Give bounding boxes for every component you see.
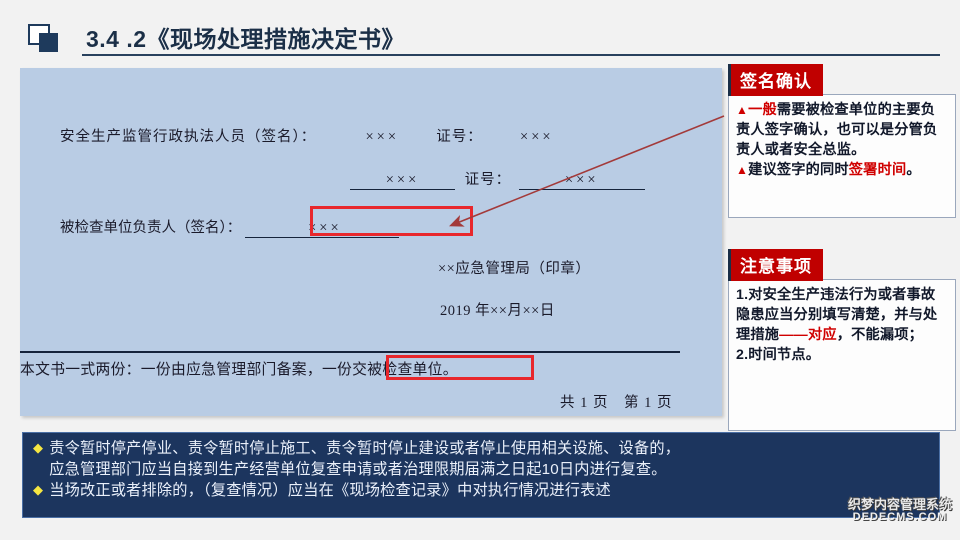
annotation-notices: 注意事项 1.对安全生产违法行为或者事故隐患应当分别填写清楚，并与处理措施——对… xyxy=(728,249,956,431)
bottom-note-line: 当场改正或者排除的，（复查情况）应当在《现场检查记录》中对执行情况进行表述 xyxy=(49,481,931,502)
bottom-note-line: 责令暂时停产停业、责令暂时停止施工、责令暂时停止建设或者停止使用相关设施、设备的… xyxy=(49,439,931,460)
annotation-line: 1.对安全生产违法行为或者事故隐患应当分别填写清楚，并与处理措施——对应，不能漏… xyxy=(736,285,949,345)
bottom-note-text: 当场改正或者排除的，（复查情况）应当在《现场检查记录》中对执行情况进行表述 xyxy=(49,481,931,502)
slide-root: 3.4 .2《现场处理措施决定书》 安全生产监管行政执法人员（签名）： ××× … xyxy=(0,0,960,540)
annotation-body-signature: ▲一般需要被检查单位的主要负责人签字确认，也可以是分管负责人或者安全总监。 ▲建… xyxy=(728,94,956,218)
header-divider xyxy=(82,54,940,56)
annotation-body-notices: 1.对安全生产违法行为或者事故隐患应当分别填写清楚，并与处理措施——对应，不能漏… xyxy=(728,279,956,431)
watermark: 织梦内容管理系统 DEDECMS.COM xyxy=(846,498,954,524)
bottom-note-item: ◆ 责令暂时停产停业、责令暂时停止施工、责令暂时停止建设或者停止使用相关设施、设… xyxy=(33,439,931,481)
annotation-signature-confirmation: 签名确认 ▲一般需要被检查单位的主要负责人签字确认，也可以是分管负责人或者安全总… xyxy=(728,64,956,218)
annotation-seg: 2.时间节点。 xyxy=(736,347,820,363)
officer-signature-value: ××× xyxy=(366,129,400,145)
diamond-bullet-icon: ◆ xyxy=(33,481,43,499)
bottom-note-item: ◆ 当场改正或者排除的，（复查情况）应当在《现场检查记录》中对执行情况进行表述 xyxy=(33,481,931,502)
annotation-seg: 建议签字的同时 xyxy=(748,162,849,178)
annotation-seg: 。 xyxy=(906,162,920,178)
footnote-prefix: 本文书一式两份：一份由应急管理部门备案， xyxy=(20,362,322,378)
diamond-bullet-icon: ◆ xyxy=(33,439,43,457)
logo-filled-square xyxy=(39,33,58,52)
footnote-highlight-box xyxy=(386,355,534,380)
watermark-line-1: 织梦内容管理系统 xyxy=(846,498,954,511)
officer2-cert-value: ××× xyxy=(519,172,645,190)
officer2-signature-value: ××× xyxy=(350,172,455,190)
annotation-line: ▲建议签字的同时签署时间。 xyxy=(736,160,949,180)
annotation-seg: 一般 xyxy=(748,102,777,118)
annotation-seg: ——对应 xyxy=(779,327,837,343)
bottom-notes-bar: ◆ 责令暂时停产停业、责令暂时停止施工、责令暂时停止建设或者停止使用相关设施、设… xyxy=(22,432,940,518)
responsible-label: 被检查单位负责人（签名）： xyxy=(60,220,241,236)
officer-cert-label: 证号： xyxy=(436,129,483,145)
annotation-line: 2.时间节点。 xyxy=(736,345,949,365)
officer-cert-value: ××× xyxy=(520,129,554,145)
footnote-divider xyxy=(20,351,680,353)
officer-label: 安全生产监管行政执法人员（签名）： xyxy=(60,129,316,145)
watermark-line-2: DEDECMS.COM xyxy=(846,511,954,524)
page-title: 3.4 .2《现场处理措施决定书》 xyxy=(86,20,405,54)
issuing-organization: ××应急管理局（印章） xyxy=(438,257,590,278)
annotation-line: ▲一般需要被检查单位的主要负责人签字确认，也可以是分管负责人或者安全总监。 xyxy=(736,100,949,160)
bottom-note-text: 责令暂时停产停业、责令暂时停止施工、责令暂时停止建设或者停止使用相关设施、设备的… xyxy=(49,439,931,481)
officer2-cert-label: 证号： xyxy=(465,172,512,188)
signature-highlight-box xyxy=(310,206,473,236)
page-counter: 共 1 页 第 1 页 xyxy=(560,391,673,412)
triangle-bullet-icon: ▲ xyxy=(736,103,748,117)
document-panel: 安全生产监管行政执法人员（签名）： ××× 证号： ××× ××× 证号： ××… xyxy=(20,68,722,416)
double-square-logo-icon xyxy=(28,24,58,52)
officer-signature-row: 安全生产监管行政执法人员（签名）： ××× 证号： ××× xyxy=(60,125,554,146)
annotation-seg: ，不能漏项； xyxy=(837,327,923,343)
annotation-seg: 签署时间 xyxy=(849,162,907,178)
officer-signature-row-2: ××× 证号： ××× xyxy=(350,168,645,190)
annotation-tag-signature: 签名确认 xyxy=(728,64,823,96)
triangle-bullet-icon: ▲ xyxy=(736,163,748,177)
annotation-tag-notices: 注意事项 xyxy=(728,249,823,281)
issue-date: 2019 年××月××日 xyxy=(440,299,555,320)
bottom-note-line: 应急管理部门应当自接到生产经营单位复查申请或者治理限期届满之日起10日内进行复查… xyxy=(49,460,931,481)
